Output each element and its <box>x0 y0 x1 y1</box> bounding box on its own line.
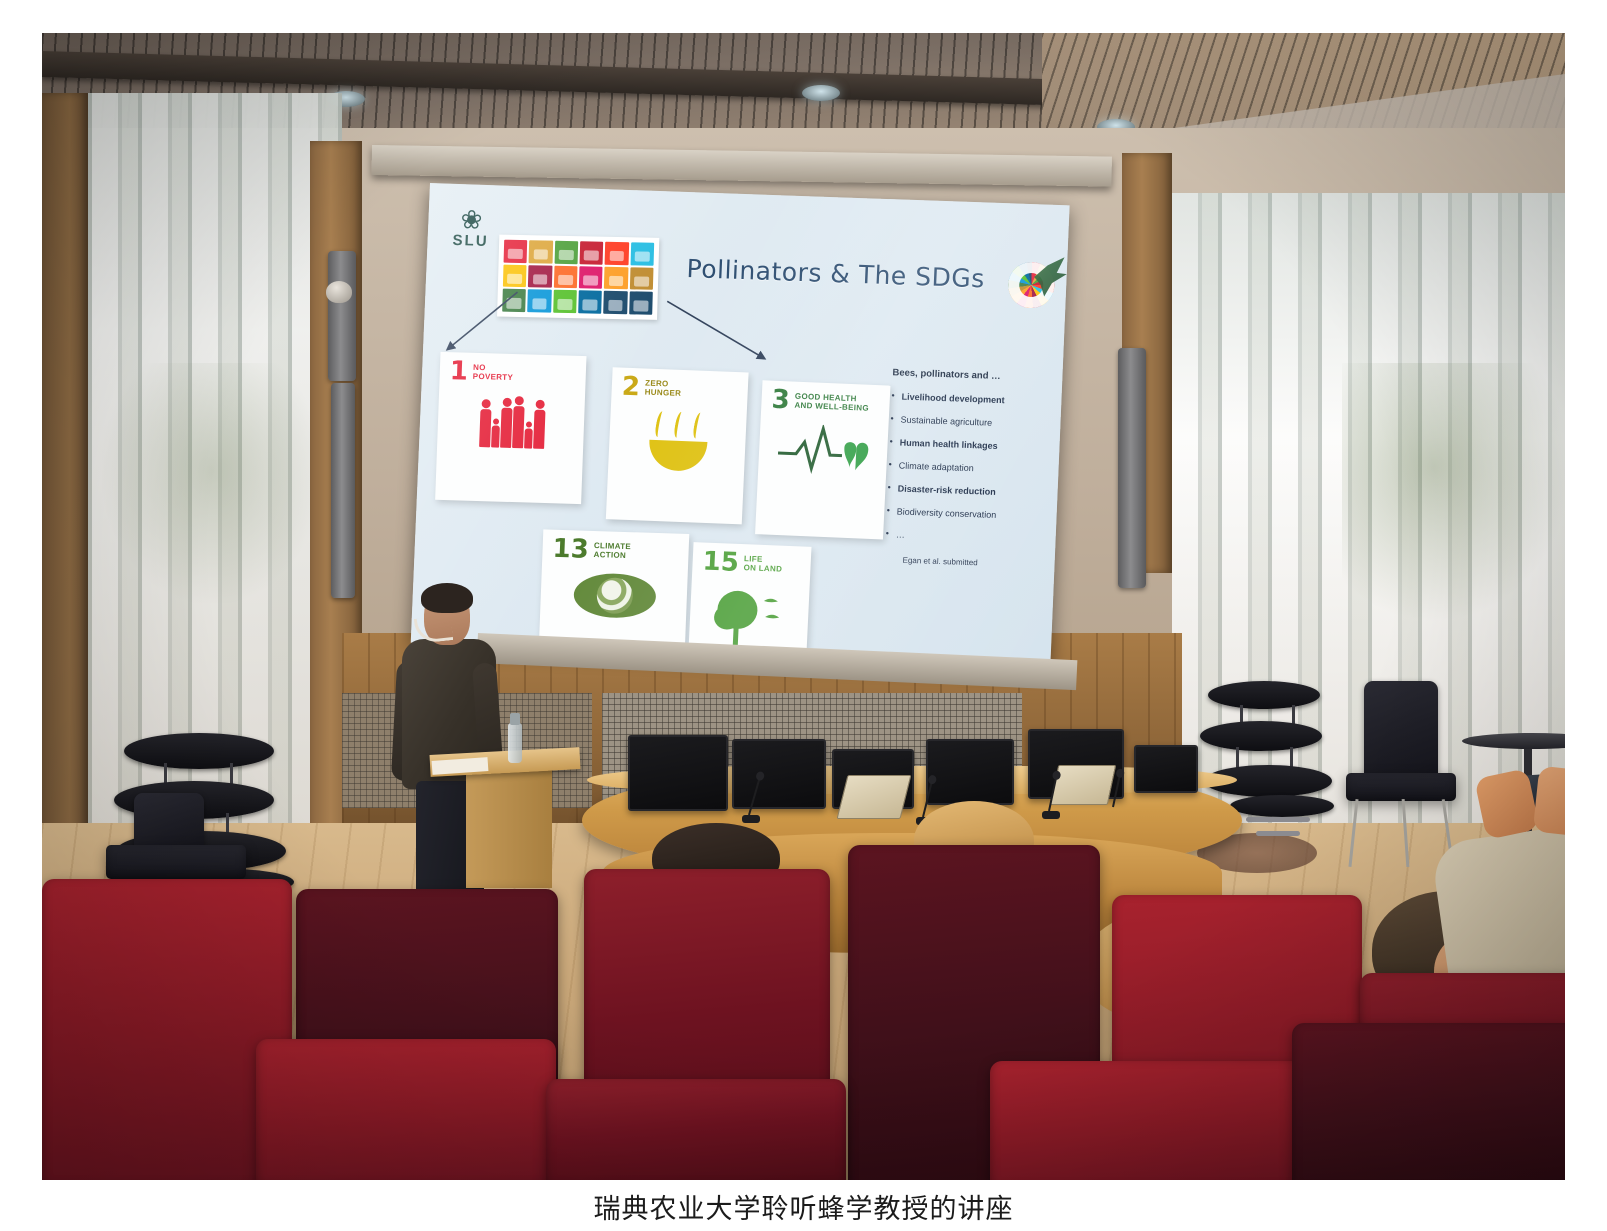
wood-pillar-far-left <box>42 93 88 893</box>
sdg-card-label: LIFE ON LAND <box>743 552 782 574</box>
sdg-card-header: 1 NO POVERTY <box>449 360 578 386</box>
sdg-tile-5 <box>605 242 629 265</box>
bullets-title: Bees, pollinators and … <box>892 367 1057 384</box>
desk-microphone-base-1 <box>742 815 760 823</box>
lecture-photo: ❀ SLU Pollinators & The SDGs 1 NO <box>42 33 1565 1180</box>
sdg-card-header: 3 GOOD HEALTH AND WELL-BEING <box>771 389 882 416</box>
sdg-card-2: 2 ZERO HUNGER <box>606 367 749 524</box>
sdg-card-label: NO POVERTY <box>473 361 514 382</box>
bullet-text: Climate adaptation <box>899 461 974 474</box>
sdg-card-header: 2 ZERO HUNGER <box>621 376 740 403</box>
sdg-tile-1 <box>504 240 528 263</box>
bullet-item: • Sustainable agriculture <box>890 414 1055 430</box>
desk-monitor-1 <box>628 735 728 811</box>
desk-monitor-4 <box>926 739 1014 805</box>
wall-speaker-left-lower <box>331 383 355 598</box>
auditorium-seat <box>1292 1023 1565 1180</box>
ceiling-downlight <box>802 85 840 101</box>
sdg-tile-18 <box>629 292 653 315</box>
sdg-card-label-line2: ON LAND <box>743 563 782 574</box>
bullet-text: Disaster-risk reduction <box>898 484 996 497</box>
sdg-tile-14 <box>528 290 552 313</box>
sdg-card-header: 13 CLIMATE ACTION <box>552 538 681 564</box>
sdg-tile-10 <box>579 266 603 289</box>
slu-leaf-icon: ❀ <box>448 206 495 234</box>
sdg-card-label: GOOD HEALTH AND WELL-BEING <box>794 390 869 413</box>
wall-speaker-right <box>1118 348 1146 588</box>
slide-citation: Egan et al. submitted <box>902 556 1049 570</box>
desk-microphone-base-3 <box>1042 811 1060 819</box>
sdg-tile-15 <box>553 290 577 313</box>
sdg-tile-7 <box>503 264 527 287</box>
sdg-card-label-line1: NO <box>473 363 486 372</box>
desk-monitor-6 <box>1134 745 1198 793</box>
sdg-card-1: 1 NO POVERTY <box>435 352 586 504</box>
bullet-dot-icon: • <box>891 391 895 401</box>
slu-logo-text: SLU <box>447 232 494 251</box>
bullet-dot-icon: • <box>888 460 892 470</box>
bullet-text: Livelihood development <box>901 392 1004 406</box>
sdg-tile-9 <box>554 265 578 288</box>
sdg-tile-6 <box>630 242 654 265</box>
lectern-body <box>466 768 552 888</box>
armchair-right <box>1342 681 1472 866</box>
sdg-tile-12 <box>630 267 654 290</box>
sdg-tile-8 <box>528 265 552 288</box>
bullet-item: • Livelihood development <box>891 391 1056 407</box>
dome-camera-icon <box>326 281 352 303</box>
bullet-dot-icon: • <box>889 437 893 447</box>
bullet-item: • Human health linkages <box>889 437 1054 453</box>
heartbeat-icon <box>768 423 881 485</box>
image-caption-text: 瑞典农业大学聆听蜂学教授的讲座 <box>594 1187 1014 1226</box>
auditorium-seat <box>990 1061 1310 1180</box>
bullet-text: Sustainable agriculture <box>900 415 992 428</box>
sdg-card-label-line2: AND WELL-BEING <box>794 401 869 413</box>
bullet-item: • Disaster-risk reduction <box>887 483 1052 499</box>
bullet-item: • Biodiversity conservation <box>886 506 1051 522</box>
sdg-card-label: ZERO HUNGER <box>645 377 682 398</box>
bullet-text: Human health linkages <box>899 438 997 451</box>
wall-speaker-left-upper <box>328 251 356 381</box>
slu-logo: ❀ SLU <box>447 206 495 260</box>
sdg-card-label-line2: HUNGER <box>645 387 682 397</box>
bullet-text: Biodiversity conservation <box>897 506 997 519</box>
sdg-tile-4 <box>580 241 604 264</box>
climate-eye-globe-icon <box>550 572 680 620</box>
sdg-card-label: CLIMATE ACTION <box>593 539 631 560</box>
presenter-hair <box>421 583 473 613</box>
auditorium-seat <box>42 879 292 1180</box>
sdg-tile-11 <box>604 266 628 289</box>
desk-monitor-2 <box>732 739 826 809</box>
sdg-card-number: 2 <box>621 376 640 399</box>
water-bottle-cap <box>510 713 520 725</box>
auditorium-seat <box>256 1039 556 1180</box>
sdg-tile-16 <box>578 291 602 314</box>
sdg-card-header: 15 LIFE ON LAND <box>702 550 803 576</box>
bullet-dot-icon: • <box>887 483 891 493</box>
water-bottle <box>508 723 522 763</box>
projection-screen: ❀ SLU Pollinators & The SDGs 1 NO <box>411 183 1070 665</box>
sdg-card-3: 3 GOOD HEALTH AND WELL-BEING <box>755 380 890 539</box>
bullet-item: • … <box>885 529 1050 545</box>
zero-hunger-bowl-icon <box>618 410 739 473</box>
image-caption-bar: 瑞典农业大学聆听蜂学教授的讲座 <box>0 1182 1607 1231</box>
auditorium-seat <box>546 1079 846 1180</box>
laptop-1 <box>837 775 912 819</box>
bullet-dot-icon: • <box>886 506 890 516</box>
sdg-card-number: 1 <box>449 360 468 383</box>
sdg-tile-17 <box>604 291 628 314</box>
sdg-card-number: 15 <box>702 550 739 573</box>
slide-title: Pollinators & The SDGs <box>686 254 985 293</box>
sdg-card-number: 13 <box>552 538 589 561</box>
no-poverty-people-icon <box>447 394 577 450</box>
sdg-card-number: 3 <box>771 389 790 412</box>
sdg-card-label-line2: POVERTY <box>473 372 514 382</box>
bullet-dot-icon: • <box>885 529 889 539</box>
bullet-dot-icon: • <box>890 414 894 424</box>
sdg-tile-2 <box>529 240 553 263</box>
bullet-text: … <box>896 529 905 539</box>
sdg-tile-3 <box>554 241 578 264</box>
bullet-item: • Climate adaptation <box>888 460 1053 476</box>
laptop-2 <box>1050 765 1117 805</box>
sdg-card-label-line2: ACTION <box>593 550 626 560</box>
bullet-block: Bees, pollinators and … • Livelihood dev… <box>884 367 1057 570</box>
